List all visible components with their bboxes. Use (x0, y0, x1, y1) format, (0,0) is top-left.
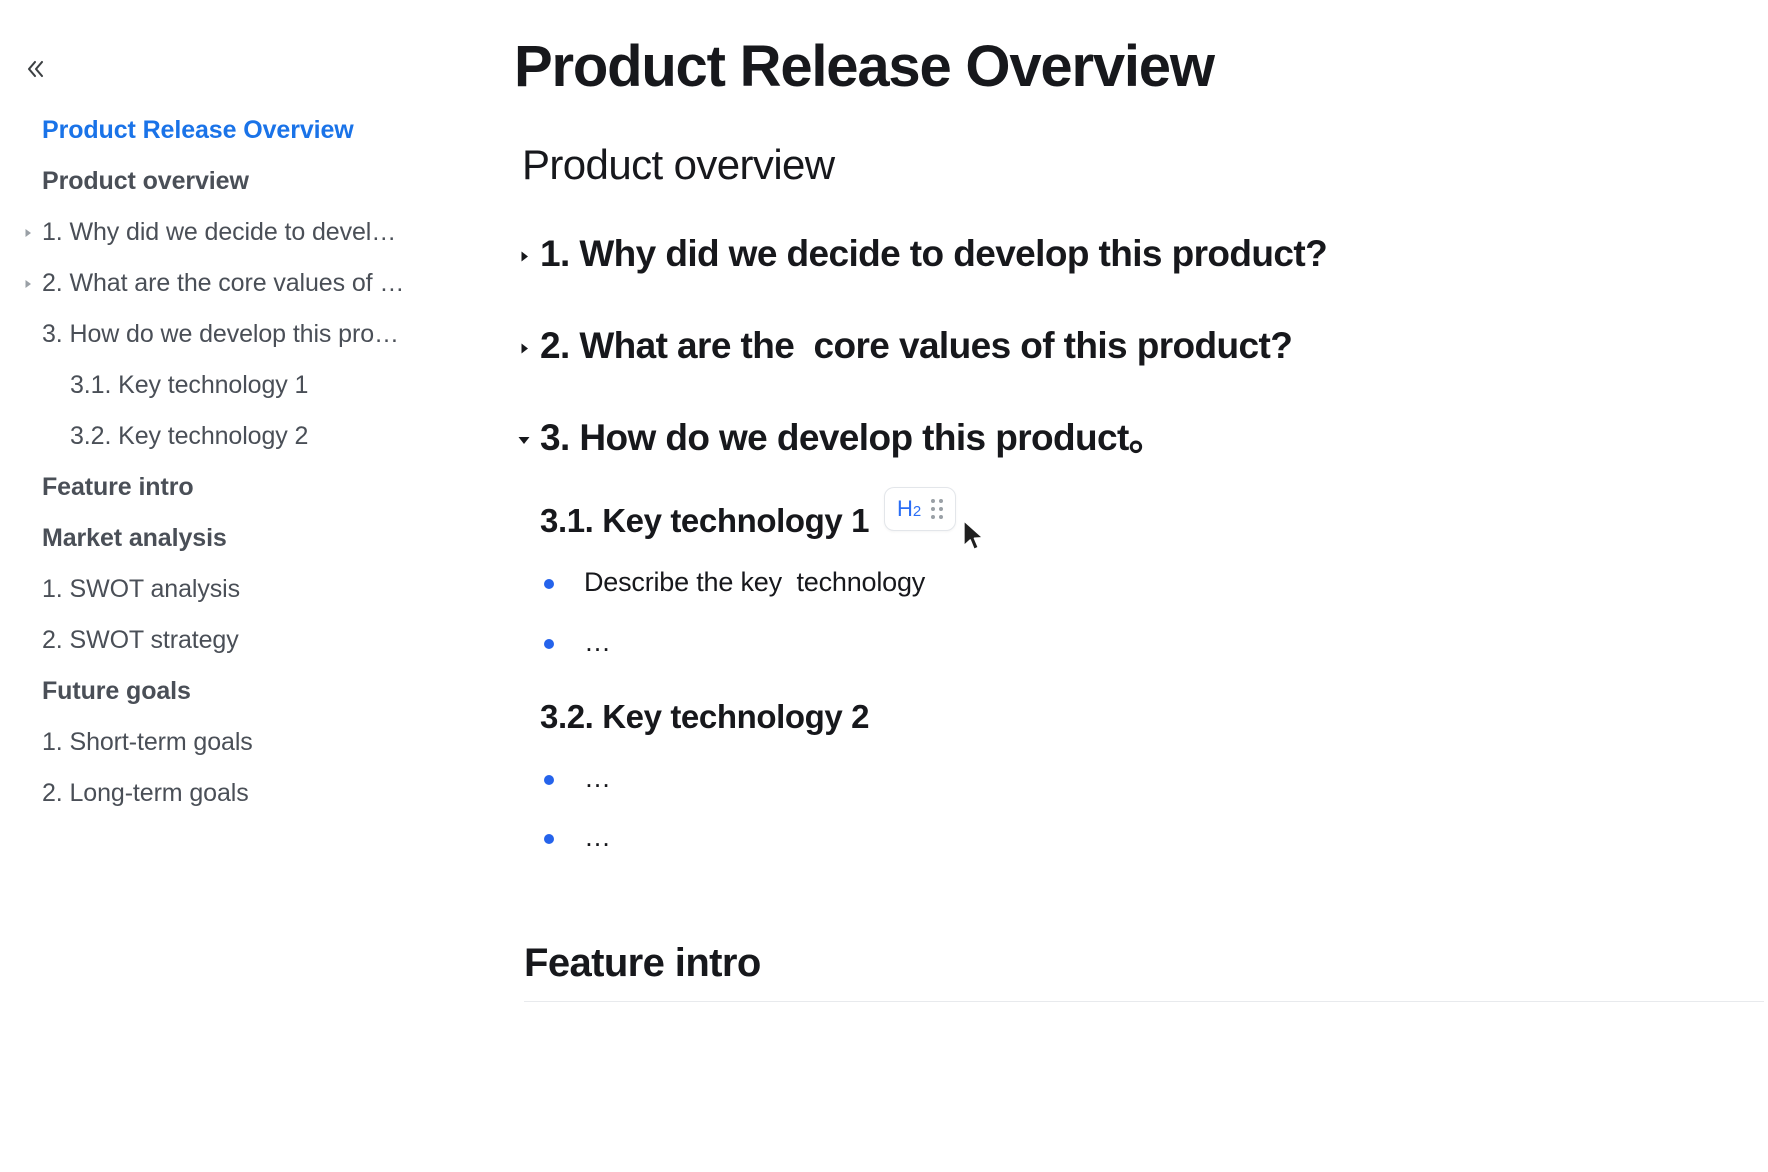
sidebar-item-swot-analysis[interactable]: 1. SWOT analysis (0, 564, 470, 615)
outline-sidebar: Product Release Overview Product overvie… (0, 0, 470, 1172)
list-item-label: … (584, 762, 611, 796)
heading-level-letter: H (897, 498, 913, 520)
sidebar-item-product-release-overview[interactable]: Product Release Overview (0, 105, 470, 156)
page-title[interactable]: Product Release Overview (514, 38, 1768, 96)
sidebar-item-label: Product Release Overview (42, 116, 354, 145)
section-heading-product-overview[interactable]: Product overview (522, 142, 1768, 188)
heading-1-text: 1. Why did we decide to develop this pro… (540, 233, 1327, 276)
list-item[interactable]: … (544, 626, 1768, 660)
sidebar-item-short-term-goals[interactable]: 1. Short-term goals (0, 717, 470, 768)
sidebar-item-label: 1. SWOT analysis (42, 575, 240, 604)
outline-list: Product Release Overview Product overvie… (0, 0, 470, 819)
sidebar-item-heading-3-1[interactable]: 3.1. Key technology 1 (0, 360, 470, 411)
heading-block-1[interactable]: 1. Why did we decide to develop this pro… (512, 228, 1768, 280)
list-item-label: Describe the key technology (584, 566, 925, 600)
sidebar-item-label: 3.2. Key technology 2 (70, 422, 308, 451)
sidebar-item-heading-2[interactable]: 2. What are the core values of … (0, 258, 470, 309)
sidebar-item-market-analysis[interactable]: Market analysis (0, 513, 470, 564)
section-divider (524, 1001, 1764, 1002)
sidebar-item-label: 1. Short-term goals (42, 728, 253, 757)
sidebar-item-label: 1. Why did we decide to devel… (42, 218, 396, 247)
bullet-icon (544, 579, 554, 589)
chevrons-left-icon (22, 56, 48, 82)
sidebar-item-product-overview[interactable]: Product overview (0, 156, 470, 207)
collapse-sidebar-button[interactable] (18, 52, 52, 86)
sidebar-item-heading-3-2[interactable]: 3.2. Key technology 2 (0, 411, 470, 462)
sidebar-item-label: 2. Long-term goals (42, 779, 249, 808)
app-root: Product Release Overview Product overvie… (0, 0, 1768, 1172)
sidebar-item-label: Product overview (42, 167, 249, 196)
sidebar-item-label: 3.1. Key technology 1 (70, 371, 308, 400)
triangle-right-icon[interactable] (22, 278, 38, 290)
sidebar-item-label: 3. How do we develop this pro… (42, 320, 399, 349)
sidebar-item-heading-3[interactable]: 3. How do we develop this pro… (0, 309, 470, 360)
heading-3-1-text[interactable]: 3.1. Key technology 1 (540, 502, 1768, 540)
list-item[interactable]: Describe the key technology (544, 566, 1768, 600)
spacer (512, 855, 1768, 941)
triangle-right-icon[interactable] (512, 341, 536, 356)
bullet-icon (544, 775, 554, 785)
sidebar-item-label: Feature intro (42, 473, 194, 502)
sidebar-item-feature-intro[interactable]: Feature intro (0, 462, 470, 513)
heading-level-number: 2 (913, 504, 921, 519)
heading-block-2[interactable]: 2. What are the core values of this prod… (512, 320, 1768, 372)
heading-block-3[interactable]: 3. How do we develop this product。 (512, 412, 1768, 464)
heading-3-text: 3. How do we develop this product。 (540, 417, 1165, 460)
bullet-icon (544, 639, 554, 649)
sidebar-item-label: 2. What are the core values of … (42, 269, 404, 298)
sidebar-item-heading-1[interactable]: 1. Why did we decide to devel… (0, 207, 470, 258)
sidebar-item-future-goals[interactable]: Future goals (0, 666, 470, 717)
list-item[interactable]: … (544, 821, 1768, 855)
triangle-right-icon[interactable] (22, 227, 38, 239)
section-heading-feature-intro[interactable]: Feature intro (524, 941, 1768, 985)
block-type-handle[interactable]: H2 (884, 487, 956, 531)
triangle-right-icon[interactable] (512, 249, 536, 264)
heading-level-badge[interactable]: H2 (897, 498, 921, 520)
sidebar-item-swot-strategy[interactable]: 2. SWOT strategy (0, 615, 470, 666)
drag-handle-icon[interactable] (931, 499, 943, 519)
list-item[interactable]: … (544, 762, 1768, 796)
list-item-label: … (584, 626, 611, 660)
heading-3-2-text[interactable]: 3.2. Key technology 2 (540, 698, 1768, 736)
sidebar-item-label: Future goals (42, 677, 191, 706)
triangle-down-icon[interactable] (512, 431, 536, 449)
list-item-label: … (584, 821, 611, 855)
bullet-icon (544, 834, 554, 844)
sidebar-item-long-term-goals[interactable]: 2. Long-term goals (0, 768, 470, 819)
document-canvas: Product Release Overview Product overvie… (470, 0, 1768, 1172)
sidebar-item-label: 2. SWOT strategy (42, 626, 239, 655)
sidebar-item-label: Market analysis (42, 524, 227, 553)
heading-2-text: 2. What are the core values of this prod… (540, 325, 1292, 368)
